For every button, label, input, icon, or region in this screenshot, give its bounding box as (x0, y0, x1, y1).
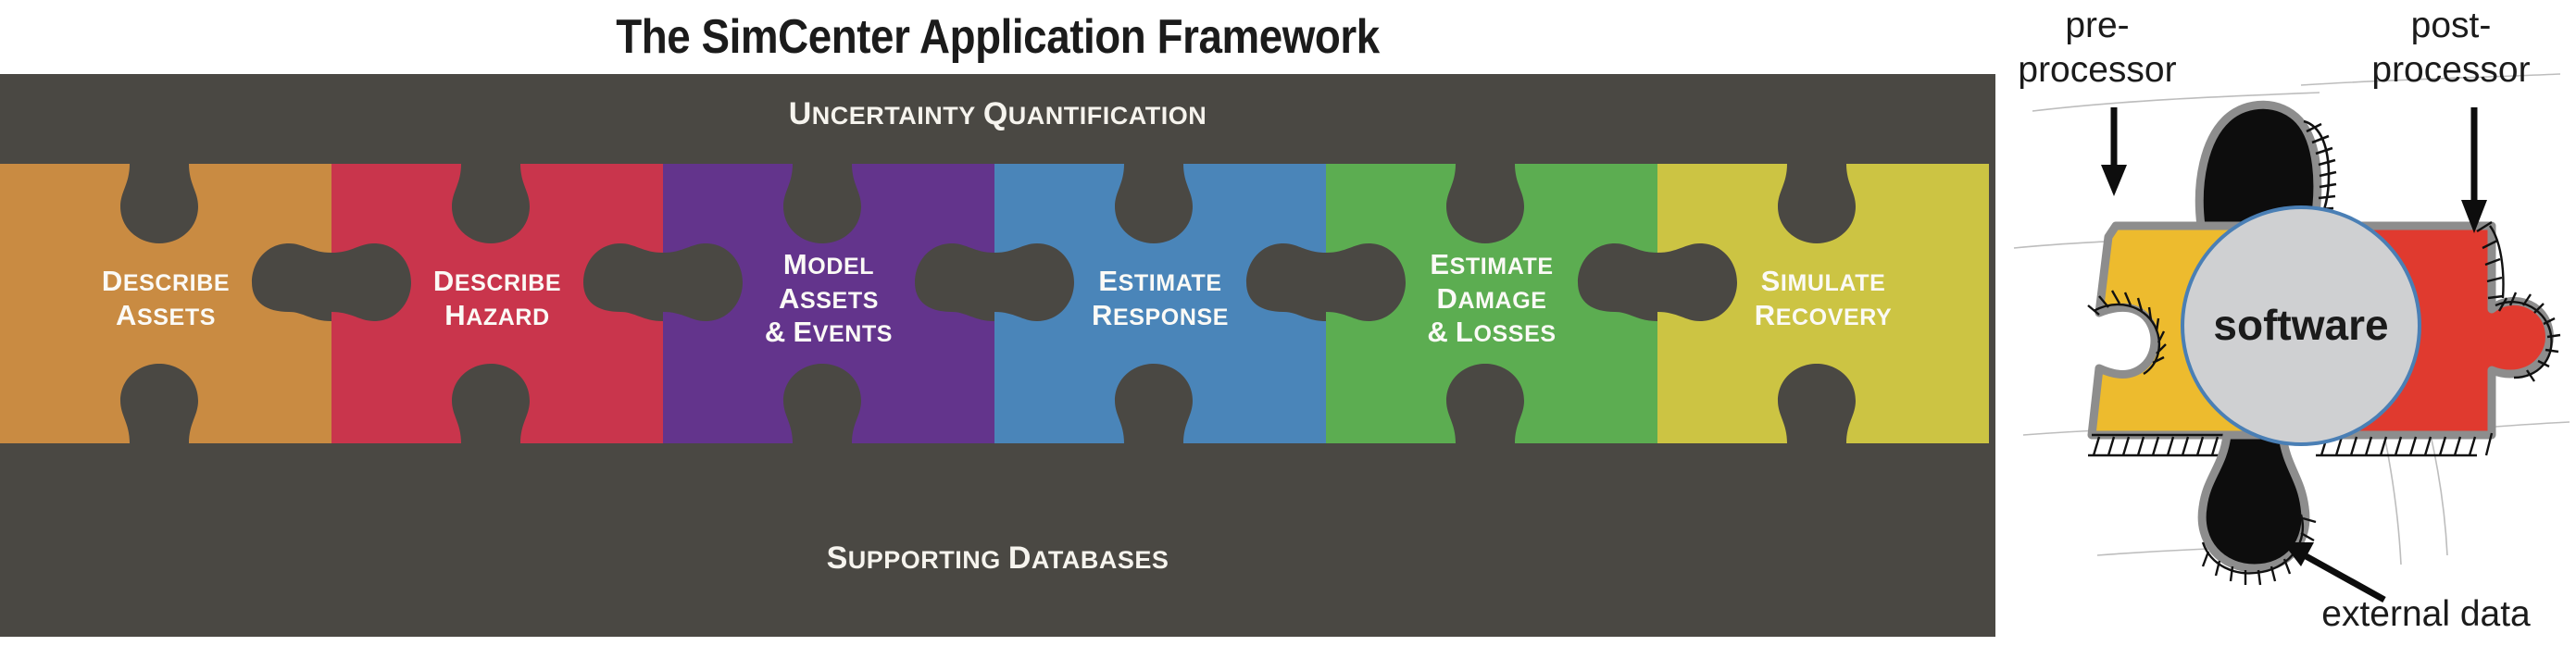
post-processor-arrow (2461, 107, 2487, 233)
framework-panel: UNCERTAINTY QUANTIFICATION SUPPORTING DA… (0, 74, 1995, 637)
framework-diagram (0, 74, 1995, 637)
post-processor-label-line1: post- (2411, 6, 2492, 45)
pre-processor-label-line1: pre- (2065, 6, 2129, 45)
post-processor-label-line2: processor (2371, 50, 2530, 90)
pre-processor-arrow (2101, 107, 2127, 196)
software-core-label: software (2213, 301, 2388, 349)
software-puzzle-illustration: software pre- processor post- processor … (1995, 0, 2576, 646)
pre-processor-label-line2: processor (2018, 50, 2176, 90)
page-title: The SimCenter Application Framework (119, 0, 1875, 74)
external-data-label: external data (2321, 594, 2531, 634)
illustration-svg: software pre- processor post- processor … (1995, 0, 2576, 646)
external-data-arrow (2282, 542, 2384, 600)
